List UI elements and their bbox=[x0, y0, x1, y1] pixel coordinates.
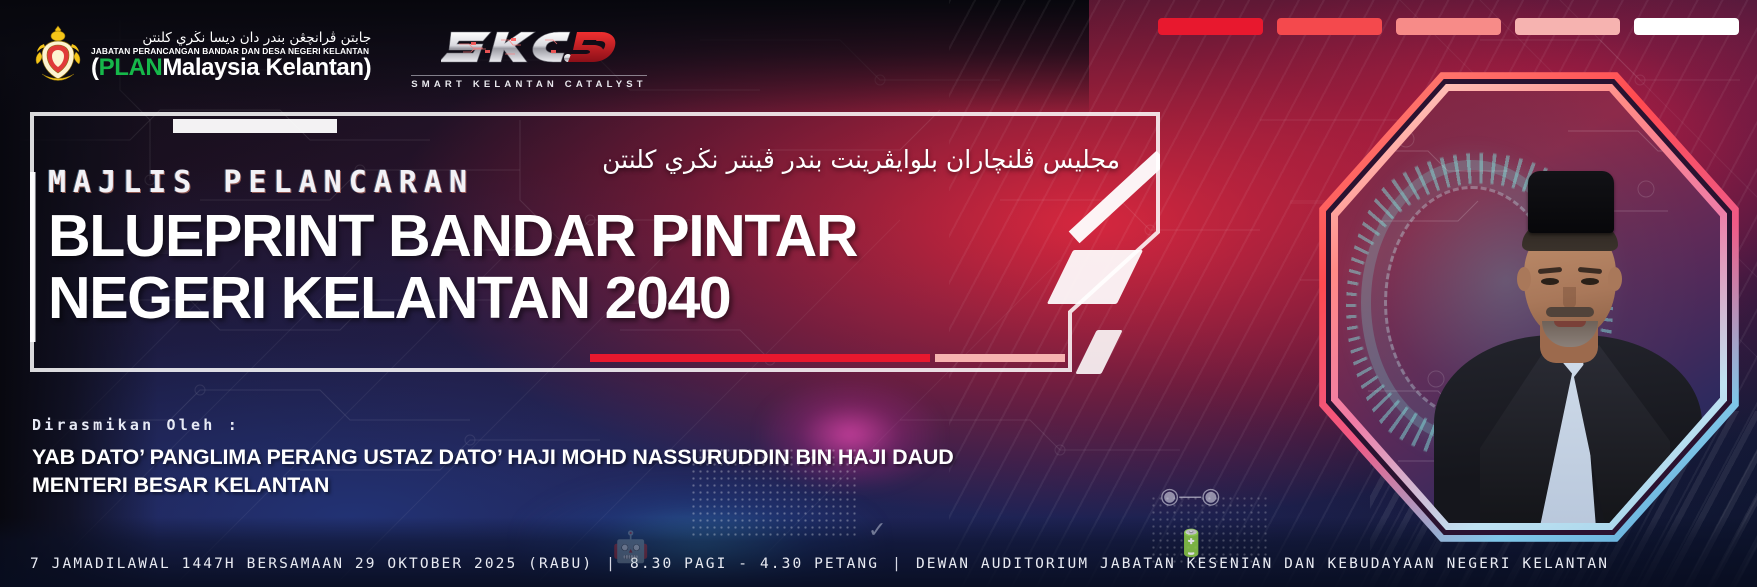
officiator-block: Dirasmikan Oleh : YAB DATO’ PANGLIMA PER… bbox=[32, 416, 954, 498]
portrait-songkok bbox=[1528, 171, 1614, 233]
officiator-label: Dirasmikan Oleh : bbox=[32, 416, 954, 434]
portrait-eye-right bbox=[1581, 278, 1599, 285]
footer-separator-1: | bbox=[606, 556, 617, 572]
headline-line-2: NEGERI KELANTAN 2040 bbox=[48, 268, 1108, 328]
accent-bar-1 bbox=[1158, 18, 1263, 35]
planmalaysia-kelantan-logo: جابتن ڤرانچڠن بندر دان ديسا نڬري كلنتن J… bbox=[34, 24, 371, 88]
plan-word: PLAN bbox=[99, 54, 163, 81]
portrait-ear-left bbox=[1517, 267, 1531, 291]
footer-time: 8.30 PAGI - 4.30 PETANG bbox=[630, 556, 879, 572]
accent-bar-5 bbox=[1634, 18, 1739, 35]
accent-bar-2 bbox=[1277, 18, 1382, 35]
accent-strip-white-2 bbox=[1075, 330, 1122, 374]
footer-venue: DEWAN AUDITORIUM JABATAN KESENIAN DAN KE… bbox=[916, 556, 1609, 572]
octagon-face bbox=[1338, 91, 1720, 523]
jawi-title: مجليس ڤلنچاران بلوايڤرينت بندر ڤينتر نڬر… bbox=[600, 144, 1120, 175]
planmalaysia-text: جابتن ڤرانچڠن بندر دان ديسا نڬري كلنتن J… bbox=[91, 32, 371, 80]
skc-tagline: SMART KELANTAN CATALYST bbox=[411, 75, 647, 90]
event-banner: جابتن ڤرانچڠن بندر دان ديسا نڬري كلنتن J… bbox=[0, 0, 1757, 587]
accent-bar-3 bbox=[1396, 18, 1501, 35]
skc-logo: SMART KELANTAN CATALYST bbox=[411, 20, 647, 90]
footer-separator-2: | bbox=[892, 556, 903, 572]
header-logos: جابتن ڤرانچڠن بندر دان ديسا نڬري كلنتن J… bbox=[34, 22, 647, 90]
headline-line-1: BLUEPRINT BANDAR PINTAR bbox=[48, 206, 1108, 266]
top-accent-bars bbox=[1158, 18, 1739, 35]
drone-icon: ◉—◉ bbox=[1160, 483, 1220, 509]
portrait-nose bbox=[1563, 287, 1576, 309]
title-block: MAJLIS PELANCARAN BLUEPRINT BANDAR PINTA… bbox=[48, 168, 1108, 328]
plan-wordmark: (PLANMalaysia Kelantan) bbox=[91, 56, 371, 80]
plan-subtitle: JABATAN PERANCANGAN BANDAR DAN DESA NEGE… bbox=[91, 48, 377, 56]
footer-date: 7 JAMADILAWAL 1447H BERSAMAAN 29 OKTOBER… bbox=[30, 556, 593, 572]
portrait-moustache bbox=[1546, 307, 1594, 317]
footer-details: 7 JAMADILAWAL 1447H BERSAMAAN 29 OKTOBER… bbox=[0, 541, 1757, 587]
officiator-name: YAB DATO’ PANGLIMA PERANG USTAZ DATO’ HA… bbox=[32, 445, 954, 470]
accent-bar-4 bbox=[1515, 18, 1620, 35]
plan-jawi-text: جابتن ڤرانچڠن بندر دان ديسا نڬري كلنتن bbox=[91, 32, 371, 46]
officiator-position: MENTERI BESAR KELANTAN bbox=[32, 473, 954, 498]
plan-paren: ( bbox=[91, 54, 99, 81]
check-icon: ✓ bbox=[868, 517, 886, 543]
portrait-eye-left bbox=[1541, 278, 1559, 285]
kelantan-state-crest-icon bbox=[34, 24, 82, 88]
skc-wordmark-icon bbox=[441, 20, 617, 72]
portrait-mouth bbox=[1554, 321, 1586, 327]
portrait-octagon bbox=[1319, 72, 1739, 542]
malaysia-kelantan-word: Malaysia Kelantan) bbox=[162, 54, 371, 81]
portrait-ear-right bbox=[1608, 267, 1622, 291]
